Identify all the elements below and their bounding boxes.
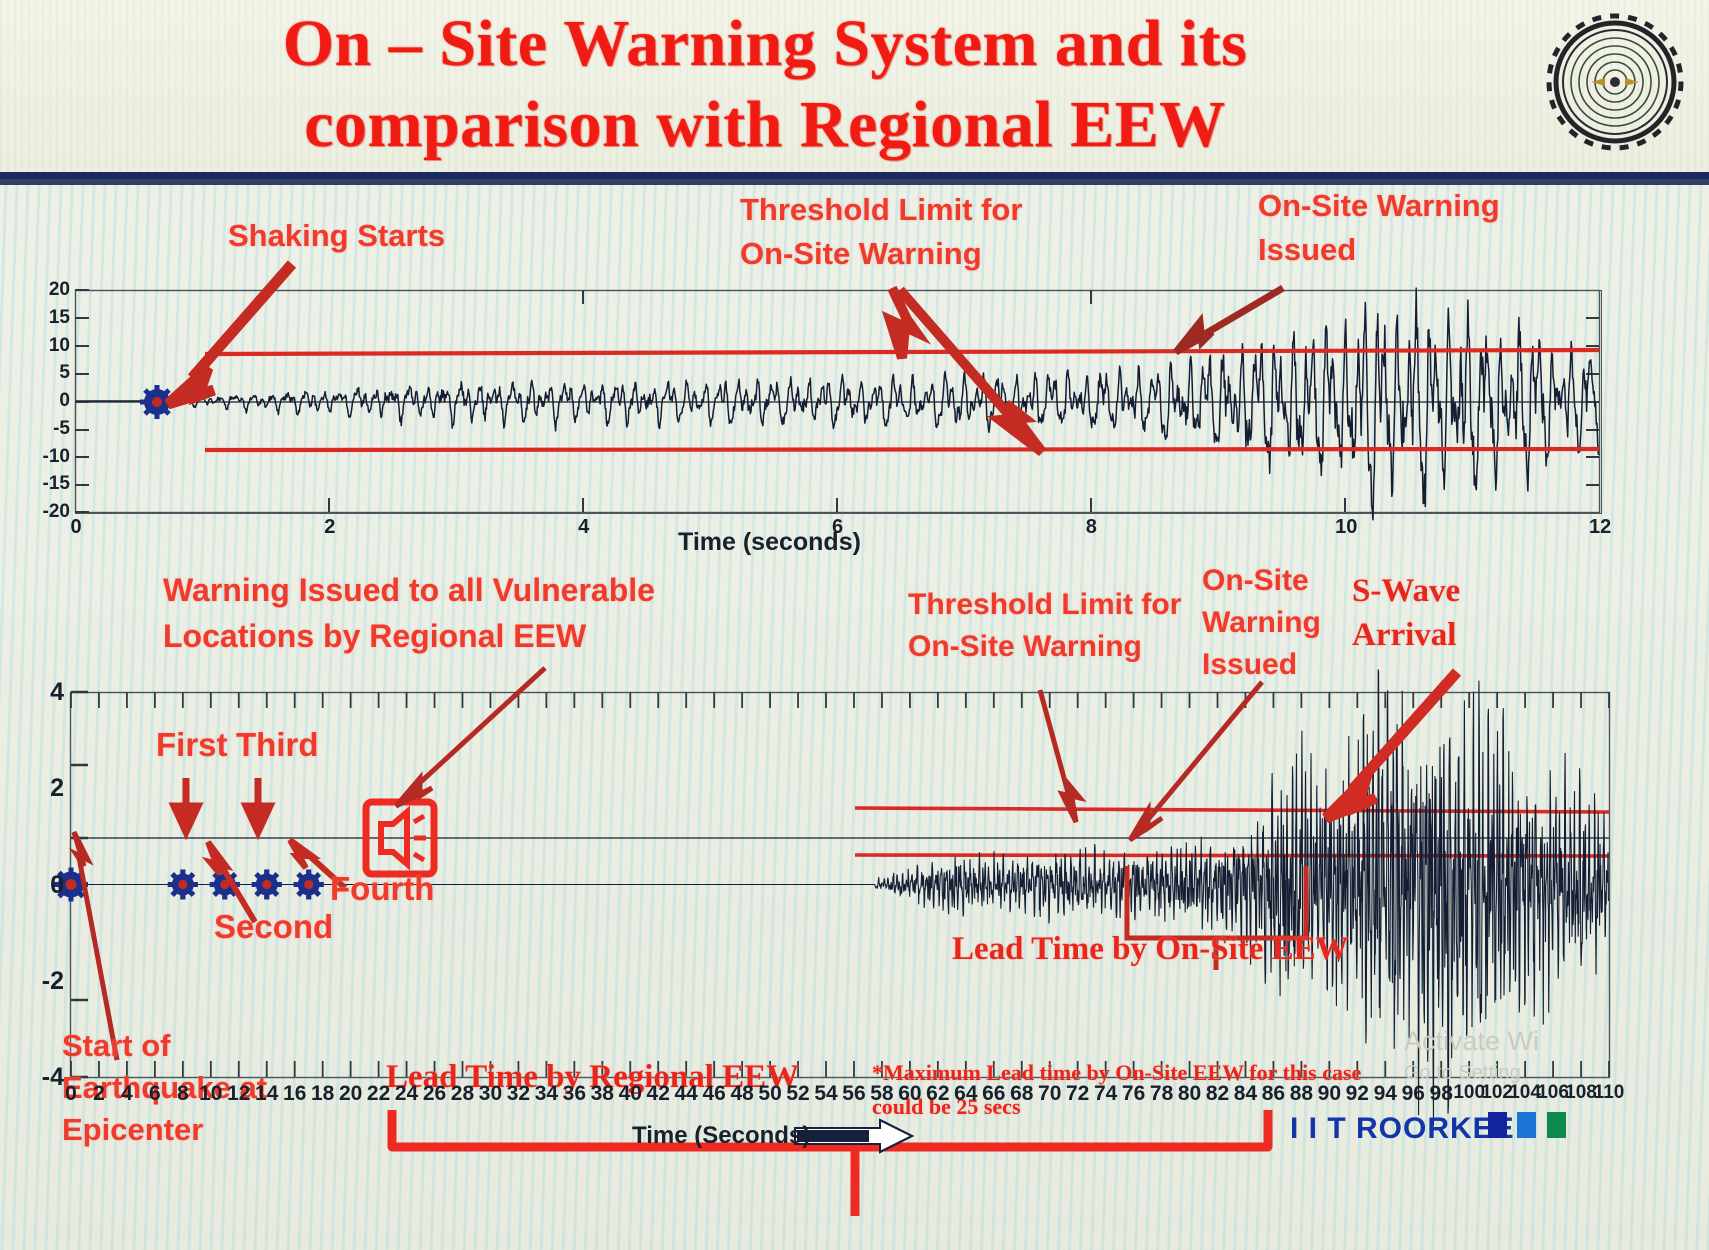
bottom-xtick-96: 96: [1401, 1082, 1425, 1106]
station-marker-1: [168, 870, 198, 900]
bottom-ytick-0: 0: [28, 871, 64, 900]
bottom-xtick-14: 14: [255, 1082, 279, 1106]
top-ytick--10: -10: [36, 446, 70, 468]
bottom-xtick-44: 44: [674, 1082, 698, 1106]
bottom-xtick-10: 10: [199, 1082, 223, 1106]
anno-lead-time-onsite: Lead Time by On-Site EEW: [952, 930, 1349, 968]
bottom-xtick-42: 42: [646, 1082, 670, 1106]
bottom-xtick-50: 50: [758, 1082, 782, 1106]
bottom-xtick-46: 46: [702, 1082, 726, 1106]
regional-eew-arrow: [396, 668, 545, 806]
lead-time-regional-bracket: [392, 1110, 1268, 1216]
anno-fourth: Fourth: [330, 870, 434, 908]
bottom-xtick-84: 84: [1233, 1082, 1257, 1106]
s-wave-arrival-arrow: [1326, 672, 1457, 818]
bottom-xtick-16: 16: [283, 1082, 307, 1106]
bottom-xtick-26: 26: [423, 1082, 447, 1106]
anno-onsite-warning-top-l2: Issued: [1258, 232, 1356, 268]
top-ytick-5: 5: [36, 362, 70, 384]
bottom-xtick-30: 30: [478, 1082, 502, 1106]
bottom-xtick-72: 72: [1066, 1082, 1090, 1106]
bottom-xtick-48: 48: [730, 1082, 754, 1106]
footer-brand-marks: [1488, 1112, 1566, 1143]
top-accelerogram-panel: [75, 290, 1602, 514]
bottom-xtick-54: 54: [814, 1082, 838, 1106]
bottom-xtick-68: 68: [1010, 1082, 1034, 1106]
regional-eew-warning-icon: [366, 802, 434, 874]
bottom-xtick-38: 38: [590, 1082, 614, 1106]
top-xtick-2: 2: [320, 516, 340, 539]
anno-s-wave-l2: Arrival: [1352, 616, 1456, 654]
anno-threshold-limit-bottom-l1: Threshold Limit for: [908, 588, 1181, 623]
anno-first: First: [156, 726, 228, 764]
third-marker-arrow: [246, 778, 270, 832]
slide-root: On – Site Warning System and its compari…: [0, 0, 1709, 1250]
bottom-xtick-6: 6: [143, 1082, 167, 1106]
bottom-xtick-28: 28: [450, 1082, 474, 1106]
bottom-xtick-60: 60: [898, 1082, 922, 1106]
bottom-xtick-56: 56: [842, 1082, 866, 1106]
anno-third: Third: [236, 726, 318, 764]
top-xtick-0: 0: [66, 516, 86, 539]
footer-brand-text: I I T ROORKEE: [1290, 1112, 1515, 1146]
onsite-warning-arrow-bottom: [1130, 682, 1262, 840]
anno-onsite-warning-bottom-l3: Issued: [1202, 648, 1297, 683]
bottom-xtick-80: 80: [1178, 1082, 1202, 1106]
top-xtick-8: 8: [1081, 516, 1101, 539]
bottom-xtick-36: 36: [562, 1082, 586, 1106]
bottom-xtick-70: 70: [1038, 1082, 1062, 1106]
bottom-xtick-78: 78: [1150, 1082, 1174, 1106]
anno-second: Second: [214, 908, 333, 946]
slide-header: On – Site Warning System and its compari…: [0, 0, 1709, 179]
watermark-line-2: Go to Setting: [1404, 1062, 1521, 1085]
top-xtick-12: 12: [1589, 516, 1609, 539]
bottom-xtick-18: 18: [311, 1082, 335, 1106]
bottom-xtick-12: 12: [227, 1082, 251, 1106]
bottom-xtick-110: 110: [1592, 1082, 1626, 1104]
top-ytick-20: 20: [36, 279, 70, 301]
bottom-xtick-0: 0: [59, 1082, 83, 1106]
bottom-xtick-74: 74: [1094, 1082, 1118, 1106]
bottom-xtick-4: 4: [115, 1082, 139, 1106]
anno-regional-eew-l1: Warning Issued to all Vulnerable: [163, 572, 655, 609]
bottom-xtick-98: 98: [1429, 1082, 1453, 1106]
anno-threshold-limit-bottom-l2: On-Site Warning: [908, 630, 1142, 665]
bottom-xtick-22: 22: [367, 1082, 391, 1106]
top-xtick-10: 10: [1335, 516, 1355, 539]
bottom-xtick-24: 24: [395, 1082, 419, 1106]
bottom-xtick-8: 8: [171, 1082, 195, 1106]
bottom-xtick-2: 2: [87, 1082, 111, 1106]
page-title: On – Site Warning System and its compari…: [150, 4, 1380, 165]
anno-shaking-starts: Shaking Starts: [228, 218, 445, 254]
anno-onsite-warning-bottom-l2: Warning: [1202, 606, 1321, 641]
top-ytick--20: -20: [36, 501, 70, 523]
bottom-xtick-86: 86: [1261, 1082, 1285, 1106]
anno-threshold-limit-top-l2: On-Site Warning: [740, 236, 982, 272]
iit-roorkee-emblem-icon: [1539, 6, 1691, 158]
top-xtick-4: 4: [574, 516, 594, 539]
station-marker-2: [210, 870, 240, 900]
bottom-xtick-92: 92: [1345, 1082, 1369, 1106]
bottom-xtick-52: 52: [786, 1082, 810, 1106]
watermark-line-1: Activate Wi: [1404, 1026, 1539, 1057]
bottom-xtick-58: 58: [870, 1082, 894, 1106]
station-marker-3: [252, 870, 282, 900]
bottom-xtick-94: 94: [1373, 1082, 1397, 1106]
bottom-xtick-88: 88: [1289, 1082, 1313, 1106]
threshold-limit-arrow-bottom: [1040, 690, 1080, 822]
bottom-ytick--2: -2: [28, 967, 64, 996]
top-ytick--5: -5: [36, 418, 70, 440]
anno-onsite-warning-top-l1: On-Site Warning: [1258, 188, 1500, 224]
start-of-earthquake-arrow: [74, 832, 117, 1060]
top-ytick-0: 0: [36, 390, 70, 412]
bottom-xtick-34: 34: [534, 1082, 558, 1106]
station-marker-4: [294, 870, 324, 900]
bottom-xtick-90: 90: [1317, 1082, 1341, 1106]
bottom-xtick-76: 76: [1122, 1082, 1146, 1106]
top-chart-xlabel: Time (seconds): [678, 528, 861, 557]
bottom-xtick-64: 64: [954, 1082, 978, 1106]
top-ytick-10: 10: [36, 335, 70, 357]
anno-start-eq-l1: Start of: [62, 1028, 171, 1064]
time-direction-arrow: [795, 1120, 912, 1152]
bottom-xtick-62: 62: [926, 1082, 950, 1106]
top-ytick-15: 15: [36, 307, 70, 329]
title-line-2: comparison with Regional EEW: [150, 85, 1380, 166]
anno-s-wave-l1: S-Wave: [1352, 572, 1460, 610]
bottom-ytick-4: 4: [28, 678, 64, 707]
anno-onsite-warning-bottom-l1: On-Site: [1202, 564, 1309, 599]
first-marker-arrow: [174, 778, 198, 832]
bottom-xtick-32: 32: [506, 1082, 530, 1106]
anno-threshold-limit-top-l1: Threshold Limit for: [740, 192, 1022, 228]
bottom-xtick-66: 66: [982, 1082, 1006, 1106]
bottom-xtick-82: 82: [1206, 1082, 1230, 1106]
anno-regional-eew-l2: Locations by Regional EEW: [163, 618, 586, 655]
bottom-xtick-40: 40: [618, 1082, 642, 1106]
bottom-ytick-2: 2: [28, 774, 64, 803]
bottom-xtick-20: 20: [339, 1082, 363, 1106]
anno-start-eq-l3: Epicenter: [62, 1112, 203, 1148]
bottom-chart-xlabel: Time (Seconds): [632, 1122, 810, 1150]
top-ytick--15: -15: [36, 473, 70, 495]
title-line-1: On – Site Warning System and its: [150, 4, 1380, 85]
